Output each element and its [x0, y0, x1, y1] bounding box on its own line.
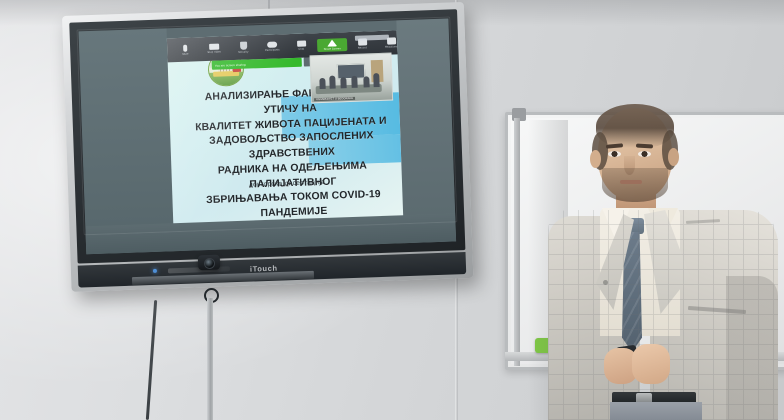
eyebrow-right: [636, 144, 653, 149]
eye-right: [638, 151, 651, 157]
display-bezel: АНАЛИЗИРАЊЕ ФАКТОРА КОЈИ УТИЧУ НА КВАЛИТ…: [69, 9, 465, 263]
interactive-display[interactable]: АНАЛИЗИРАЊЕ ФАКТОРА КОЈИ УТИЧУ НА КВАЛИТ…: [62, 2, 473, 292]
power-led-icon: [153, 269, 157, 273]
presenter: [540, 96, 784, 420]
camera-lens-icon: [204, 258, 215, 269]
eye-left: [608, 151, 621, 157]
ear-left: [590, 150, 601, 168]
jacket-sleeve-shadow: [726, 276, 778, 420]
trousers: [610, 402, 702, 420]
mouth: [620, 180, 642, 184]
webcam: [198, 255, 221, 271]
beard: [602, 168, 668, 202]
ear-right: [668, 148, 679, 166]
presentation-room-photo: АНАЛИЗИРАЊЕ ФАКТОРА КОЈИ УТИЧУ НА КВАЛИТ…: [0, 0, 784, 420]
whiteboard-post: [514, 118, 520, 366]
bezel-inner-edge: [76, 16, 457, 235]
floor-stand-pole: [207, 298, 213, 420]
jacket-button: [603, 280, 608, 285]
right-hand: [632, 344, 670, 384]
